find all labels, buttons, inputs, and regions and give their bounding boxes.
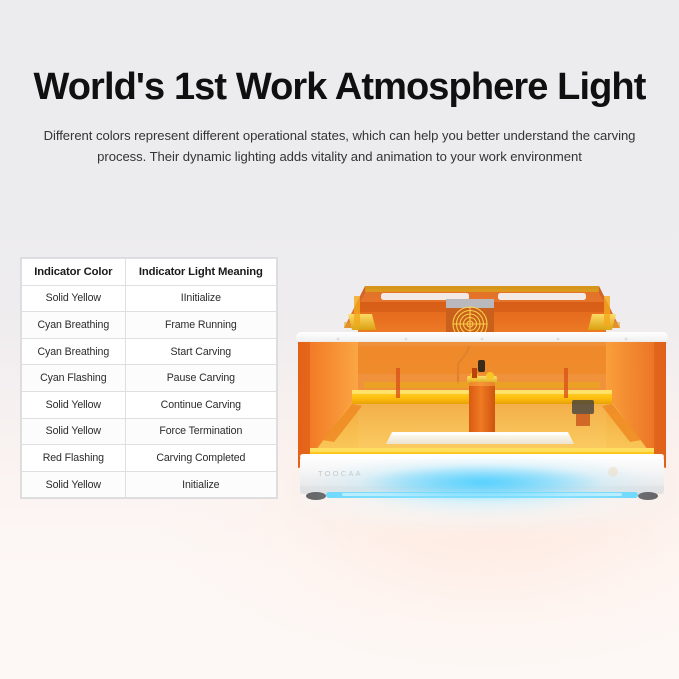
table-row: Solid Yellow Continue Carving bbox=[22, 391, 277, 418]
power-indicator-dot bbox=[608, 467, 618, 477]
cell-indicator-meaning: Frame Running bbox=[125, 312, 276, 339]
table-row: Solid Yellow IInitialize bbox=[22, 285, 277, 312]
cell-indicator-meaning: Force Termination bbox=[125, 418, 276, 445]
table-row: Cyan Breathing Frame Running bbox=[22, 312, 277, 339]
table-row: Cyan Flashing Pause Carving bbox=[22, 365, 277, 392]
header: World's 1st Work Atmosphere Light Differ… bbox=[0, 66, 679, 167]
workpiece bbox=[386, 432, 574, 444]
cell-indicator-meaning: IInitialize bbox=[125, 285, 276, 312]
brand-logo-text: TOOCAA bbox=[318, 469, 363, 478]
column-header-indicator-meaning: Indicator Light Meaning bbox=[125, 259, 276, 286]
table-header-row: Indicator Color Indicator Light Meaning bbox=[22, 259, 277, 286]
cell-indicator-color: Cyan Breathing bbox=[22, 312, 126, 339]
cell-indicator-color: Cyan Flashing bbox=[22, 365, 126, 392]
column-header-indicator-color: Indicator Color bbox=[22, 259, 126, 286]
cell-indicator-color: Solid Yellow bbox=[22, 471, 126, 498]
cell-indicator-color: Red Flashing bbox=[22, 445, 126, 472]
page-subtitle: Different colors represent different ope… bbox=[37, 125, 642, 167]
cell-indicator-color: Solid Yellow bbox=[22, 391, 126, 418]
laser-engraver-product-image: TOOCAA bbox=[286, 272, 678, 522]
atmosphere-light-strip bbox=[326, 492, 638, 498]
indicator-light-table: Indicator Color Indicator Light Meaning … bbox=[21, 258, 277, 498]
cell-indicator-meaning: Pause Carving bbox=[125, 365, 276, 392]
cell-indicator-color: Solid Yellow bbox=[22, 418, 126, 445]
table-row: Cyan Breathing Start Carving bbox=[22, 338, 277, 365]
cell-indicator-meaning: Carving Completed bbox=[125, 445, 276, 472]
table-row: Red Flashing Carving Completed bbox=[22, 445, 277, 472]
cell-indicator-meaning: Continue Carving bbox=[125, 391, 276, 418]
cell-indicator-color: Cyan Breathing bbox=[22, 338, 126, 365]
cell-indicator-meaning: Start Carving bbox=[125, 338, 276, 365]
table-row: Solid Yellow Force Termination bbox=[22, 418, 277, 445]
table-row: Solid Yellow Initialize bbox=[22, 471, 277, 498]
cell-indicator-meaning: Initialize bbox=[125, 471, 276, 498]
cell-indicator-color: Solid Yellow bbox=[22, 285, 126, 312]
machine-chassis: TOOCAA bbox=[300, 454, 664, 494]
page-title: World's 1st Work Atmosphere Light bbox=[0, 66, 679, 109]
